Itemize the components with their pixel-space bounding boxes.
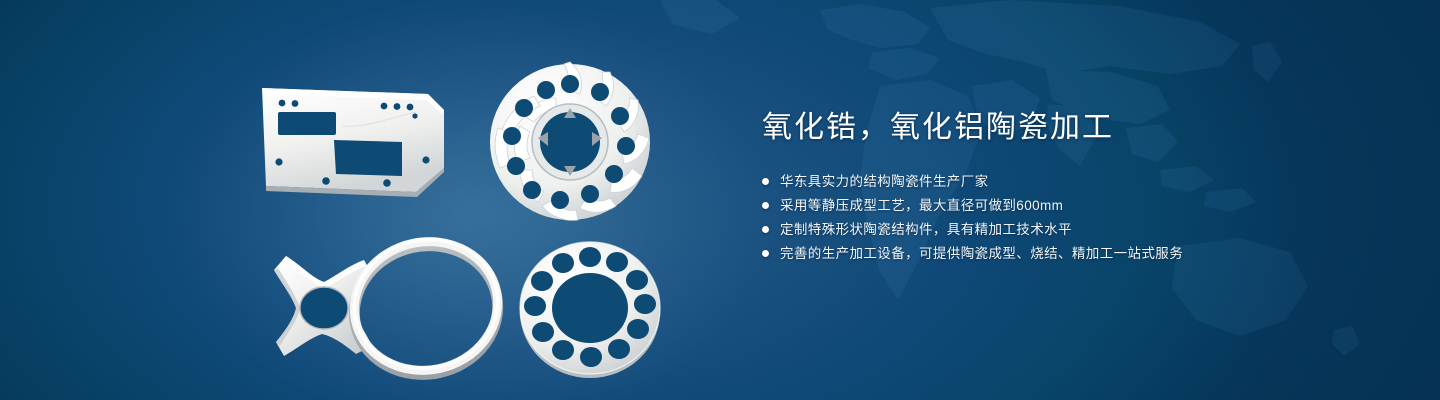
list-item: 采用等静压成型工艺，最大直径可做到600mm (762, 194, 1382, 217)
ceramic-plate-with-cutouts (262, 88, 444, 197)
bullet-label: 采用等静压成型工艺，最大直径可做到600mm (780, 194, 1063, 217)
ceramic-perforated-disc (520, 242, 660, 378)
banner-copy: 氧化锆，氧化铝陶瓷加工 华东具实力的结构陶瓷件生产厂家 采用等静压成型工艺，最大… (762, 108, 1382, 266)
bullet-label: 定制特殊形状陶瓷结构件，具有精加工技术水平 (780, 218, 1072, 241)
bullet-dot-icon (762, 178, 769, 185)
ceramic-thin-ring (342, 226, 509, 380)
bullet-dot-icon (762, 226, 769, 233)
list-item: 定制特殊形状陶瓷结构件，具有精加工技术水平 (762, 218, 1382, 241)
bullet-dot-icon (762, 202, 769, 209)
banner-feature-list: 华东具实力的结构陶瓷件生产厂家 采用等静压成型工艺，最大直径可做到600mm 定… (762, 170, 1382, 265)
banner-title: 氧化锆，氧化铝陶瓷加工 (762, 108, 1382, 148)
list-item: 华东具实力的结构陶瓷件生产厂家 (762, 170, 1382, 193)
bullet-label: 完善的生产加工设备，可提供陶瓷成型、烧结、精加工一站式服务 (780, 242, 1183, 265)
bullet-dot-icon (762, 250, 769, 257)
bullet-label: 华东具实力的结构陶瓷件生产厂家 (780, 170, 989, 193)
list-item: 完善的生产加工设备，可提供陶瓷成型、烧结、精加工一站式服务 (762, 242, 1382, 265)
hero-banner: 氧化锆，氧化铝陶瓷加工 华东具实力的结构陶瓷件生产厂家 采用等静压成型工艺，最大… (0, 0, 1440, 400)
ceramic-impeller-vaned-disc (490, 62, 650, 220)
ceramic-products-image (230, 40, 700, 380)
